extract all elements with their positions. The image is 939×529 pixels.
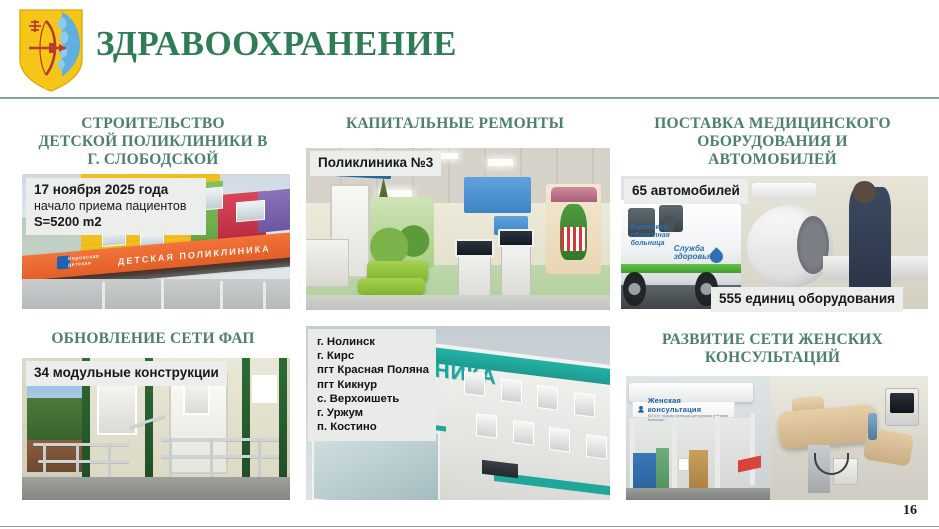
clinic-entrance-sign-sub: КОГБУЗ «Кирово-Чепецкая центральная райо…	[648, 414, 735, 422]
caption-line: 65 автомобилей	[632, 183, 740, 198]
heading-line: ОБОРУДОВАНИЯ И	[620, 133, 925, 151]
heading-capital-repairs: КАПИТАЛЬНЫЕ РЕМОНТЫ	[305, 115, 605, 133]
header-divider	[0, 97, 939, 99]
slide-header: ЗДРАВООХРАНЕНИЕ	[0, 0, 939, 98]
caption-polyclinic-number: Поликлиника №3	[310, 151, 441, 176]
heading-line: КОНСУЛЬТАЦИЙ	[620, 349, 925, 367]
caption-vehicles-count: 65 автомобилей	[624, 179, 748, 204]
location-list: г. Нолинск г. Кирс пгт Красная Поляна пг…	[308, 329, 436, 441]
caption-line: Поликлиника №3	[318, 155, 433, 170]
footer-divider	[0, 526, 939, 527]
caption-fap-count: 34 модульные конструкции	[26, 361, 227, 386]
page-title: ЗДРАВООХРАНЕНИЕ	[96, 24, 457, 64]
list-item: г. Нолинск	[317, 335, 427, 349]
heading-line: КАПИТАЛЬНЫЕ РЕМОНТЫ	[305, 115, 605, 133]
list-item: п. Костино	[317, 420, 427, 434]
caption-line: начало приема пациентов	[34, 198, 198, 214]
photo-gynecological-chair	[770, 376, 928, 500]
clinic-entrance-sign: Женская консультация	[648, 396, 735, 414]
caption-line: 17 ноября 2025 года	[34, 182, 198, 198]
caption-line: S=5200 m2	[34, 214, 198, 230]
heading-line: ПОСТАВКА МЕДИЦИНСКОГО	[620, 115, 925, 133]
clinic-logo-icon	[637, 405, 645, 414]
page-number: 16	[903, 503, 917, 519]
heading-womens-clinics: РАЗВИТИЕ СЕТИ ЖЕНСКИХ КОНСУЛЬТАЦИЙ	[620, 331, 925, 367]
caption-construction: 17 ноября 2025 года начало приема пациен…	[26, 178, 206, 235]
heading-line: СТРОИТЕЛЬСТВО	[8, 115, 298, 133]
caption-line: 555 единиц оборудования	[719, 291, 895, 306]
heading-line: ОБНОВЛЕНИЕ СЕТИ ФАП	[8, 330, 298, 348]
heading-construction: СТРОИТЕЛЬСТВО ДЕТСКОЙ ПОЛИКЛИНИКИ В Г. С…	[8, 115, 298, 169]
caption-line: 34 модульные конструкции	[34, 365, 219, 380]
heading-line: ДЕТСКОЙ ПОЛИКЛИНИКИ В	[8, 133, 298, 151]
list-item: пгт Кикнур	[317, 378, 427, 392]
kirov-oblast-coat-of-arms-icon	[16, 7, 86, 93]
list-item: г. Кирс	[317, 349, 427, 363]
slide-root: ЗДРАВООХРАНЕНИЕ СТРОИТЕЛЬСТВО ДЕТСКОЙ ПО…	[0, 0, 939, 529]
heading-line: АВТОМОБИЛЕЙ	[620, 151, 925, 169]
list-item: с. Верхоишеть	[317, 392, 427, 406]
heading-fap-network: ОБНОВЛЕНИЕ СЕТИ ФАП	[8, 330, 298, 348]
list-item: г. Уржум	[317, 406, 427, 420]
heading-line: РАЗВИТИЕ СЕТИ ЖЕНСКИХ	[620, 331, 925, 349]
photo-womens-clinic-entrance: Женская консультация КОГБУЗ «Кирово-Чепе…	[626, 376, 770, 500]
list-item: пгт Красная Поляна	[317, 363, 427, 377]
heading-line: Г. СЛОБОДСКОЙ	[8, 151, 298, 169]
heading-medical-equipment: ПОСТАВКА МЕДИЦИНСКОГО ОБОРУДОВАНИЯ И АВТ…	[620, 115, 925, 169]
caption-equipment-count: 555 единиц оборудования	[711, 287, 903, 312]
